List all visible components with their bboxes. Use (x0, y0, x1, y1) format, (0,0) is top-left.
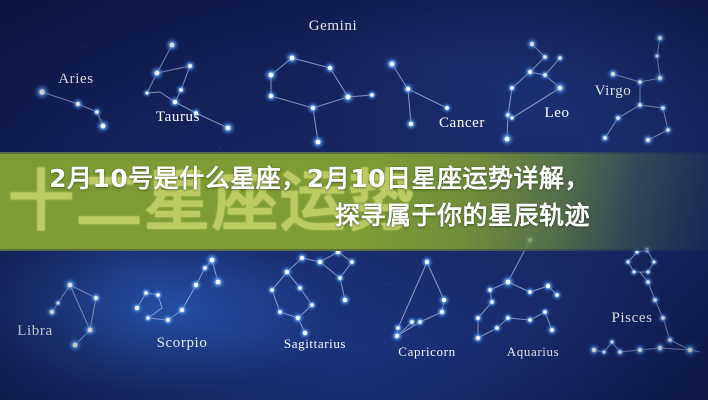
pisces-stars (587, 245, 698, 358)
leo-stars (499, 37, 568, 147)
headline-line-1: 2月10号是什么星座，2月10日星座运势详解， (24, 160, 590, 197)
headline-line-2: 探寻属于你的星辰轨迹 (24, 197, 590, 234)
constellation-scorpio: Scorpio (130, 252, 226, 351)
constellation-label-aries: Aries (58, 71, 94, 87)
capricorn-stars (390, 255, 451, 343)
constellation-label-cancer: Cancer (439, 115, 485, 131)
constellation-label-gemini: Gemini (309, 18, 358, 34)
constellation-gemini: Gemini (263, 18, 378, 150)
constellation-label-scorpio: Scorpio (157, 335, 208, 351)
sagittarius-stars (266, 245, 358, 340)
constellation-virgo: Virgo (595, 31, 674, 147)
constellation-sagittarius: Sagittarius (266, 245, 358, 351)
scorpio-stars (130, 252, 226, 327)
constellation-label-taurus: Taurus (156, 109, 200, 125)
constellation-label-libra: Libra (17, 323, 52, 339)
zodiac-banner-image: Aries (0, 0, 708, 400)
constellation-label-sagittarius: Sagittarius (284, 336, 346, 351)
constellation-libra: Libra (17, 277, 103, 353)
constellation-pisces: Pisces (587, 245, 700, 358)
constellation-label-aquarius: Aquarius (507, 344, 559, 359)
banner-headline: 2月10号是什么星座，2月10日星座运势详解， 探寻属于你的星辰轨迹 (24, 160, 590, 234)
constellation-label-capricorn: Capricorn (398, 344, 455, 359)
banner-top-divider (0, 152, 708, 154)
constellation-cancer: Cancer (384, 56, 485, 131)
aries-stars (33, 83, 111, 134)
constellation-taurus: Taurus (142, 37, 236, 136)
constellation-label-pisces: Pisces (611, 310, 652, 326)
constellation-label-leo: Leo (544, 105, 569, 121)
constellation-leo: Leo (499, 37, 570, 147)
constellation-aries: Aries (33, 71, 111, 134)
constellation-label-virgo: Virgo (595, 83, 632, 99)
title-banner: 十二星座运势 2月10号是什么星座，2月10日星座运势详解， 探寻属于你的星辰轨… (0, 152, 708, 251)
constellation-aquarius: Aquarius (471, 234, 563, 359)
libra-stars (45, 277, 103, 353)
banner-bottom-divider (0, 249, 708, 251)
constellation-capricorn: Capricorn (390, 255, 456, 359)
